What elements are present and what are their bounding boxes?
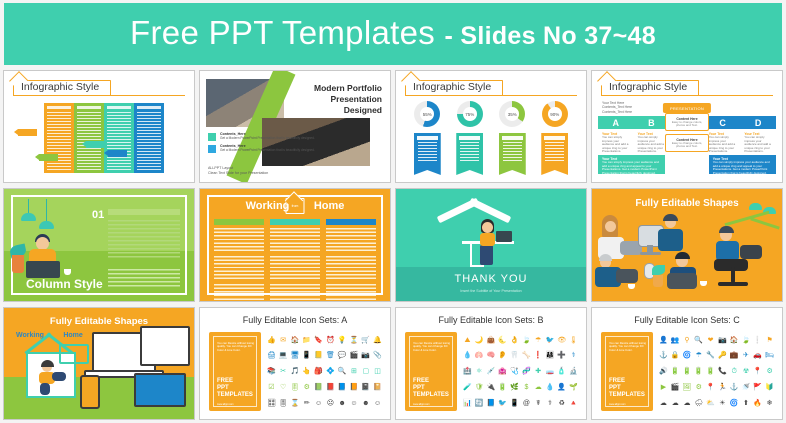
icon-4-3[interactable]: 🔌: [486, 384, 497, 392]
title-left: Working: [246, 200, 290, 212]
monitor-base: [640, 252, 661, 255]
table-cell-c: Your TextYou can simply impress your aud…: [705, 130, 741, 154]
list-item: Contents_Here Get a Modern PowerPoint Pr…: [208, 145, 315, 153]
icon-3-10[interactable]: 🔬: [568, 368, 579, 376]
icon-row-2: ⚓🔒🌀☂🔧🔑💼✈🚗🛏: [658, 350, 775, 364]
icon-1-5[interactable]: 🔖: [313, 337, 324, 345]
icon-3-7[interactable]: 🔍: [337, 368, 348, 376]
person-e-body: [716, 241, 739, 261]
card-title: [459, 136, 480, 140]
slide-thumbnail-48[interactable]: Fully Editable Icon Sets: C You can Resi…: [591, 307, 783, 420]
icon-5-2[interactable]: ☁: [670, 400, 681, 408]
laptop-e-icon: [740, 245, 762, 259]
lamp-wire-2: [46, 199, 47, 221]
icon-2-7[interactable]: 💼: [729, 352, 740, 360]
column-text-2: [214, 256, 264, 280]
panel-2[interactable]: [74, 103, 104, 173]
slide-subtitle: Insert the Subtitle of Your Presentation: [396, 289, 586, 293]
card-text: [503, 142, 522, 162]
icon-1-9[interactable]: ❕: [752, 337, 763, 345]
slide-thumbnail-37[interactable]: Infographic Style: [3, 70, 195, 183]
phone-mockup: [80, 375, 100, 409]
column-text-1: [214, 228, 264, 252]
icon-5-5[interactable]: 📱: [509, 400, 520, 408]
icon-2-9[interactable]: 📷: [360, 352, 371, 360]
column-text-1: [270, 228, 320, 252]
center-box-1[interactable]: Content HereEasy to change colors, photo…: [665, 113, 709, 131]
column-header-b: B: [634, 116, 670, 129]
cell-text: You can simply impress your audience and…: [602, 136, 630, 154]
icon-5-1[interactable]: 🎛: [266, 400, 277, 408]
bullet-body: Get a Modern PowerPoint Presentation tha…: [220, 148, 315, 152]
icon-1-6[interactable]: ⏰: [325, 337, 336, 345]
icon-5-3[interactable]: ☁: [682, 400, 693, 408]
icon-3-8[interactable]: 🧫: [545, 368, 556, 376]
bullet-text: Contents_Here Get a Modern PowerPoint Pr…: [220, 133, 315, 140]
icon-4-8[interactable]: 💧: [545, 384, 556, 392]
icon-1-10[interactable]: 🌡: [568, 337, 579, 345]
card-free-label: FREE PPT TEMPLATES: [217, 378, 253, 399]
column-group: [214, 219, 376, 286]
icon-5-8[interactable]: ⬆: [741, 400, 752, 408]
cell-text: You can simply impress your audience and…: [638, 136, 666, 154]
panel-heading: [107, 106, 131, 109]
icon-3-2[interactable]: 🔋: [670, 368, 681, 376]
icon-1-5[interactable]: 👌: [509, 337, 520, 345]
caption-card-1[interactable]: [414, 133, 441, 175]
icon-3-10[interactable]: ◫: [372, 368, 383, 376]
icon-5-2[interactable]: 🎚: [278, 400, 289, 408]
icon-5-9[interactable]: ♻: [556, 400, 567, 408]
icon-2-10[interactable]: 📎: [372, 352, 383, 360]
icon-grid: 👍✉🏠📁🔖⏰💡⏳🛒🔔🖨💻🖥📱📒🗑💬🎬📷📎📚✂🎵👆🎒💠🔍⊞▢◫☑♡🎚⚙📗📕📘📙📓📔…: [266, 334, 383, 411]
icon-5-1[interactable]: ☁: [658, 400, 669, 408]
heading-line-1: Modern Portfolio: [314, 83, 382, 94]
icon-1-9[interactable]: 🛒: [360, 337, 371, 345]
column-1[interactable]: [214, 219, 264, 286]
bullet-text: Contents_Here Get a Modern PowerPoint Pr…: [220, 145, 315, 152]
panel-text: [107, 112, 131, 170]
icon-5-10[interactable]: ☺: [372, 400, 383, 408]
callout-tab-3[interactable]: [86, 141, 105, 148]
icon-1-10[interactable]: 🔔: [372, 337, 383, 345]
wfh-left: Working: [16, 332, 44, 339]
icon-2-1[interactable]: 🖨: [266, 352, 277, 360]
icon-5-1[interactable]: 📊: [462, 400, 473, 408]
icon-2-1[interactable]: 💧: [462, 352, 473, 360]
icon-5-9[interactable]: ☻: [360, 400, 371, 408]
icon-1-6[interactable]: 🍃: [521, 337, 532, 345]
icon-4-8[interactable]: 📙: [349, 384, 360, 392]
icon-1-2[interactable]: 🌙: [474, 337, 485, 345]
icon-1-3[interactable]: ⚲: [682, 337, 693, 345]
slide-title: Fully Editable Icon Sets: A: [200, 315, 390, 325]
icon-3-9[interactable]: 🧴: [556, 368, 567, 376]
icon-5-3[interactable]: 📘: [486, 400, 497, 408]
icon-1-2[interactable]: 👥: [670, 337, 681, 345]
icon-4-3[interactable]: 🎚: [290, 384, 301, 392]
icon-5-6[interactable]: ☹: [325, 400, 336, 408]
donut-chart-1: 55%: [414, 101, 440, 127]
icon-2-6[interactable]: 🔑: [717, 352, 728, 360]
icon-1-9[interactable]: 👁: [556, 337, 567, 345]
icon-2-1[interactable]: ⚓: [658, 352, 669, 360]
slide-thumbnail-44[interactable]: Fully Editable Shapes: [591, 188, 783, 301]
icon-4-5[interactable]: 🌿: [509, 384, 520, 392]
callout-tab-4[interactable]: [108, 150, 127, 157]
icon-3-9[interactable]: ▢: [360, 368, 371, 376]
column-text-2: [326, 256, 376, 280]
icon-3-4[interactable]: 🔋: [693, 368, 704, 376]
icon-5-8[interactable]: ⚕: [545, 400, 556, 408]
panel-1[interactable]: [44, 103, 74, 173]
icon-2-9[interactable]: 🚗: [752, 352, 763, 360]
column-text-3: [270, 284, 320, 301]
icon-2-2[interactable]: 🔒: [670, 352, 681, 360]
slide-thumbnail-45[interactable]: Fully Editable Shapes Working from Home: [3, 307, 195, 420]
title-underline: [13, 95, 185, 96]
icon-1-1[interactable]: 👍: [266, 337, 277, 345]
donut-chart-2: 75%: [457, 101, 483, 127]
icon-1-8[interactable]: 🍃: [741, 337, 752, 345]
tv-mockup: [134, 373, 186, 407]
icon-1-7[interactable]: ☂: [533, 337, 544, 345]
slide-thumbnail-47[interactable]: Fully Editable Icon Sets: B You can Resi…: [395, 307, 587, 420]
icon-5-5[interactable]: ☺: [313, 400, 324, 408]
icon-5-9[interactable]: 🔥: [752, 400, 763, 408]
icon-3-9[interactable]: 📍: [752, 368, 763, 376]
icon-row-1: 👤👥⚲🔍❤📷🏠🍃❕⚑: [658, 334, 775, 348]
icon-5-4[interactable]: ✏: [301, 400, 312, 408]
icon-3-6[interactable]: 📞: [717, 368, 728, 376]
free-line-1: FREE: [217, 378, 253, 385]
icon-2-8[interactable]: 🎬: [349, 352, 360, 360]
icon-5-6[interactable]: @: [521, 400, 532, 408]
icon-4-9[interactable]: 📓: [360, 384, 371, 392]
icon-row-4: 🧪🛡🔌🔋🌿$☁💧👤🌱: [462, 381, 579, 395]
icon-1-3[interactable]: 👜: [486, 337, 497, 345]
icon-5-7[interactable]: 🌀: [729, 400, 740, 408]
center-box-2[interactable]: Content HereEasy to change colors, photo…: [665, 134, 709, 152]
free-line-3: TEMPLATES: [217, 392, 253, 399]
cell-text: You can simply impress your audience and…: [744, 136, 772, 154]
slide-title: Infographic Style: [19, 81, 101, 93]
panel-text: [47, 112, 71, 170]
icon-4-4[interactable]: 🔋: [497, 384, 508, 392]
person-torso: [480, 233, 495, 246]
icon-3-5[interactable]: 🩺: [509, 368, 520, 376]
card-text: [460, 142, 479, 162]
icon-1-7[interactable]: 💡: [337, 337, 348, 345]
icon-3-5[interactable]: 🎒: [313, 368, 324, 376]
footer-cell-spacer: [665, 155, 709, 174]
slide-thumbnail-42[interactable]: Working Home from: [199, 188, 391, 301]
icon-1-1[interactable]: 👤: [658, 337, 669, 345]
icon-3-8[interactable]: ☢: [741, 368, 752, 376]
person-d-hair: [675, 252, 690, 259]
bullet-list: Contents_Here Get a Modern PowerPoint Pr…: [208, 133, 315, 157]
icon-3-2[interactable]: ⚛: [474, 368, 485, 376]
icon-2-6[interactable]: 🗑: [325, 352, 336, 360]
icon-row-5: 🎛🎚⌛✏☺☹☻☺☻☺: [266, 397, 383, 411]
cup-c-icon: [628, 284, 635, 289]
icon-4-9[interactable]: 👤: [556, 384, 567, 392]
icon-5-2[interactable]: 🔄: [474, 400, 485, 408]
icon-3-1[interactable]: 📚: [266, 368, 277, 376]
icon-4-2[interactable]: ♡: [278, 384, 289, 392]
icon-1-1[interactable]: ⛰: [462, 337, 473, 345]
icon-2-7[interactable]: 💬: [337, 352, 348, 360]
icon-3-7[interactable]: ⏱: [729, 368, 740, 376]
card-url: www.allppt.com: [217, 403, 234, 406]
icon-3-3[interactable]: 💉: [486, 368, 497, 376]
donut-label: 90%: [542, 101, 568, 127]
table-cell-d: Your TextYou can simply impress your aud…: [740, 130, 776, 154]
title-underline: [601, 95, 773, 96]
icon-1-8[interactable]: ⏳: [349, 337, 360, 345]
icon-2-3[interactable]: 🧠: [486, 352, 497, 360]
slide-thumbnail-40[interactable]: Infographic Style Your Text Here Content…: [591, 70, 783, 183]
person-legs: [480, 245, 493, 265]
icon-row-3: 📚✂🎵👆🎒💠🔍⊞▢◫: [266, 365, 383, 379]
caption-card-3[interactable]: [499, 133, 526, 175]
icon-4-7[interactable]: 📘: [337, 384, 348, 392]
icon-5-6[interactable]: ☀: [717, 400, 728, 408]
page-title: Free PPT Templates - Slides No 37~48: [130, 16, 656, 53]
icon-2-9[interactable]: ➕: [556, 352, 567, 360]
icon-5-8[interactable]: ☺: [349, 400, 360, 408]
house-label: from: [287, 199, 304, 213]
panel-heading: [47, 106, 71, 109]
icon-4-7[interactable]: ⚓: [729, 384, 740, 392]
free-line-2: PPT: [609, 385, 645, 392]
icon-2-8[interactable]: ✈: [741, 352, 752, 360]
card-free-label: FREE PPT TEMPLATES: [413, 378, 449, 399]
icon-4-10[interactable]: 🔰: [764, 384, 775, 392]
icon-4-8[interactable]: 🚿: [741, 384, 752, 392]
icon-1-7[interactable]: 🏠: [729, 337, 740, 345]
person-c-hair: [599, 254, 612, 261]
icon-2-5[interactable]: 📒: [313, 352, 324, 360]
icon-4-1[interactable]: ☑: [266, 384, 277, 392]
icon-4-2[interactable]: 🎬: [670, 384, 681, 392]
icon-3-10[interactable]: ⚙: [764, 368, 775, 376]
slide-thumbnail-38[interactable]: Modern Portfolio Presentation Designed C…: [199, 70, 391, 183]
laptop-icon: [52, 372, 66, 381]
icon-3-4[interactable]: 👆: [301, 368, 312, 376]
icon-1-8[interactable]: 🐦: [545, 337, 556, 345]
section-heading-bar: [108, 209, 180, 215]
cup-d-icon: [700, 281, 707, 286]
donut-chart-4: 90%: [542, 101, 568, 127]
slide-title-frame: Infographic Style: [601, 78, 773, 96]
page-root: Free PPT Templates - Slides No 37~48 Inf…: [0, 0, 786, 423]
icon-2-4[interactable]: ☂: [693, 352, 704, 360]
bullet-body: Get a Modern PowerPoint Presentation tha…: [220, 136, 315, 140]
icon-3-5[interactable]: 🔋: [705, 368, 716, 376]
card-url: www.allppt.com: [413, 403, 430, 406]
slide-thumbnail-41[interactable]: 01 Column Style: [3, 188, 195, 301]
icon-4-10[interactable]: 🌱: [568, 384, 579, 392]
icon-4-4[interactable]: ⚙: [301, 384, 312, 392]
icon-4-4[interactable]: ⚙: [693, 384, 704, 392]
heading-line-2: Presentation: [314, 94, 382, 105]
donut-chart-3: 35%: [499, 101, 525, 127]
promo-card: You can Resize without losing quality. Y…: [209, 332, 261, 411]
network-icon: [208, 145, 216, 153]
card-title: [544, 136, 565, 140]
icon-row-5: 📊🔄📘🐦📱@☤⚕♻🔺: [462, 397, 579, 411]
card-text: [545, 142, 564, 162]
column-text-3: [326, 284, 376, 301]
donut-label: 75%: [457, 101, 483, 127]
icon-1-4[interactable]: 📁: [301, 337, 312, 345]
icon-4-6[interactable]: $: [521, 384, 532, 392]
lamp-icon-1: [749, 203, 762, 210]
icon-5-7[interactable]: ☻: [337, 400, 348, 408]
icon-4-6[interactable]: 📕: [325, 384, 336, 392]
lamp-wire-1: [28, 199, 29, 213]
icon-5-3[interactable]: ⌛: [290, 400, 301, 408]
icon-1-10[interactable]: ⚑: [764, 337, 775, 345]
icon-2-5[interactable]: 🦷: [509, 352, 520, 360]
icon-3-3[interactable]: 🔋: [682, 368, 693, 376]
panel-heading: [77, 106, 101, 109]
person-hair: [41, 360, 54, 367]
header-banner: Free PPT Templates - Slides No 37~48: [4, 3, 782, 65]
icon-2-3[interactable]: 🌀: [682, 352, 693, 360]
free-line-1: FREE: [413, 378, 449, 385]
icon-2-2[interactable]: 🫁: [474, 352, 485, 360]
lamp-icon-2: [39, 221, 54, 229]
free-line-2: PPT: [413, 385, 449, 392]
panel-heading: [137, 106, 161, 109]
icon-2-6[interactable]: 🦴: [521, 352, 532, 360]
free-line-2: PPT: [217, 385, 253, 392]
free-line-3: TEMPLATES: [609, 392, 645, 399]
banner-title-main: Free PPT Templates: [130, 14, 435, 51]
icon-5-4[interactable]: 🌧: [693, 400, 704, 408]
icon-2-2[interactable]: 💻: [278, 352, 289, 360]
icon-3-8[interactable]: ⊞: [349, 368, 360, 376]
icon-5-10[interactable]: ❄: [764, 400, 775, 408]
card-title: [502, 136, 523, 140]
icon-3-2[interactable]: ✂: [278, 368, 289, 376]
icon-5-5[interactable]: ⛅: [705, 400, 716, 408]
column-header: [214, 219, 264, 225]
icon-4-6[interactable]: 🏃: [717, 384, 728, 392]
footer-text: You can simply impress your audience and…: [713, 160, 770, 175]
icon-4-7[interactable]: ☁: [533, 384, 544, 392]
card-text: You can Resize without losing quality. Y…: [413, 342, 451, 353]
icon-3-4[interactable]: 🏩: [497, 368, 508, 376]
presentation-badge[interactable]: PRESENTATION: [663, 103, 711, 113]
cell-text: You can simply impress your audience and…: [709, 136, 737, 154]
donut-chart-group: 55% 75% 35% 90%: [406, 101, 576, 127]
laptop-d-icon: [667, 273, 697, 289]
list-item: Contents_Here Get a Modern PowerPoint Pr…: [208, 133, 315, 141]
icon-3-1[interactable]: 🔊: [658, 368, 669, 376]
plant-pot-icon: [12, 255, 24, 273]
icon-2-10[interactable]: 🛏: [764, 352, 775, 360]
icon-2-10[interactable]: ⚕: [568, 352, 579, 360]
free-line-1: FREE: [609, 378, 645, 385]
slide-title: Infographic Style: [411, 81, 493, 93]
icon-3-3[interactable]: 🎵: [290, 368, 301, 376]
column-text-2: [270, 256, 320, 280]
icon-4-9[interactable]: 🚩: [752, 384, 763, 392]
icon-2-4[interactable]: 👂: [497, 352, 508, 360]
column-2[interactable]: [270, 219, 320, 286]
footer-line-2: Clean Text Slide for your Presentation: [208, 171, 268, 176]
panel-3[interactable]: [104, 103, 134, 173]
icon-2-4[interactable]: 📱: [301, 352, 312, 360]
icon-4-1[interactable]: 🧪: [462, 384, 473, 392]
section-number: 01: [92, 209, 104, 221]
icon-4-5[interactable]: 📍: [705, 384, 716, 392]
chair-base: [718, 282, 748, 286]
donut-label: 55%: [414, 101, 440, 127]
icon-3-7[interactable]: ✚: [533, 368, 544, 376]
icon-row-1: 👍✉🏠📁🔖⏰💡⏳🛒🔔: [266, 334, 383, 348]
icon-1-4[interactable]: 🔍: [693, 337, 704, 345]
laptop-c-icon: [616, 269, 638, 283]
icon-5-4[interactable]: 🐦: [497, 400, 508, 408]
icon-2-8[interactable]: 👨‍👩‍👧: [545, 352, 556, 360]
icon-2-5[interactable]: 🔧: [705, 352, 716, 360]
callout-tab-2[interactable]: [39, 154, 58, 161]
slide-thumbnail-46[interactable]: Fully Editable Icon Sets: A You can Resi…: [199, 307, 391, 420]
laptop-icon: [496, 231, 512, 242]
panel-4[interactable]: [134, 103, 164, 173]
slide-title-frame: Infographic Style: [13, 78, 185, 96]
icon-4-3[interactable]: 🖼: [682, 384, 693, 392]
icon-5-10[interactable]: 🔺: [568, 400, 579, 408]
column-header-d: D: [740, 116, 776, 129]
column-text-1: [326, 228, 376, 252]
icon-4-2[interactable]: 🛡: [474, 384, 485, 392]
caption-card-4[interactable]: [541, 133, 568, 175]
icon-1-4[interactable]: 🌜: [497, 337, 508, 345]
icon-1-5[interactable]: ❤: [705, 337, 716, 345]
column-3[interactable]: [326, 219, 376, 286]
icon-4-1[interactable]: ▶: [658, 384, 669, 392]
footer-cell-cd: Your TextYou can simply impress your aud…: [709, 155, 776, 174]
chair-post: [731, 267, 735, 283]
icon-3-6[interactable]: 🧬: [521, 368, 532, 376]
icon-1-6[interactable]: 📷: [717, 337, 728, 345]
icon-row-3: 🔊🔋🔋🔋🔋📞⏱☢📍⚙: [658, 365, 775, 379]
slide-thumbnail-39[interactable]: Infographic Style 55% 75% 35% 90%: [395, 70, 587, 183]
callout-tab-1[interactable]: [18, 129, 37, 136]
icon-1-2[interactable]: ✉: [278, 337, 289, 345]
person-legs: [40, 383, 50, 395]
icon-3-6[interactable]: 💠: [325, 368, 336, 376]
icon-2-3[interactable]: 🖥: [290, 352, 301, 360]
icon-3-1[interactable]: 🏥: [462, 368, 473, 376]
icon-4-5[interactable]: 📗: [313, 384, 324, 392]
column-header-c: C: [705, 116, 741, 129]
center-box-group: Content HereEasy to change colors, photo…: [665, 113, 709, 155]
icon-4-10[interactable]: 📔: [372, 384, 383, 392]
caption-card-2[interactable]: [456, 133, 483, 175]
slide-thumbnail-43[interactable]: THANK YOU Insert the Subtitle of Your Pr…: [395, 188, 587, 301]
icon-row-2: 🖨💻🖥📱📒🗑💬🎬📷📎: [266, 350, 383, 364]
person-b-hair: [663, 214, 678, 221]
icon-1-3[interactable]: 🏠: [290, 337, 301, 345]
icon-5-7[interactable]: ☤: [533, 400, 544, 408]
icon-2-7[interactable]: ❗: [533, 352, 544, 360]
